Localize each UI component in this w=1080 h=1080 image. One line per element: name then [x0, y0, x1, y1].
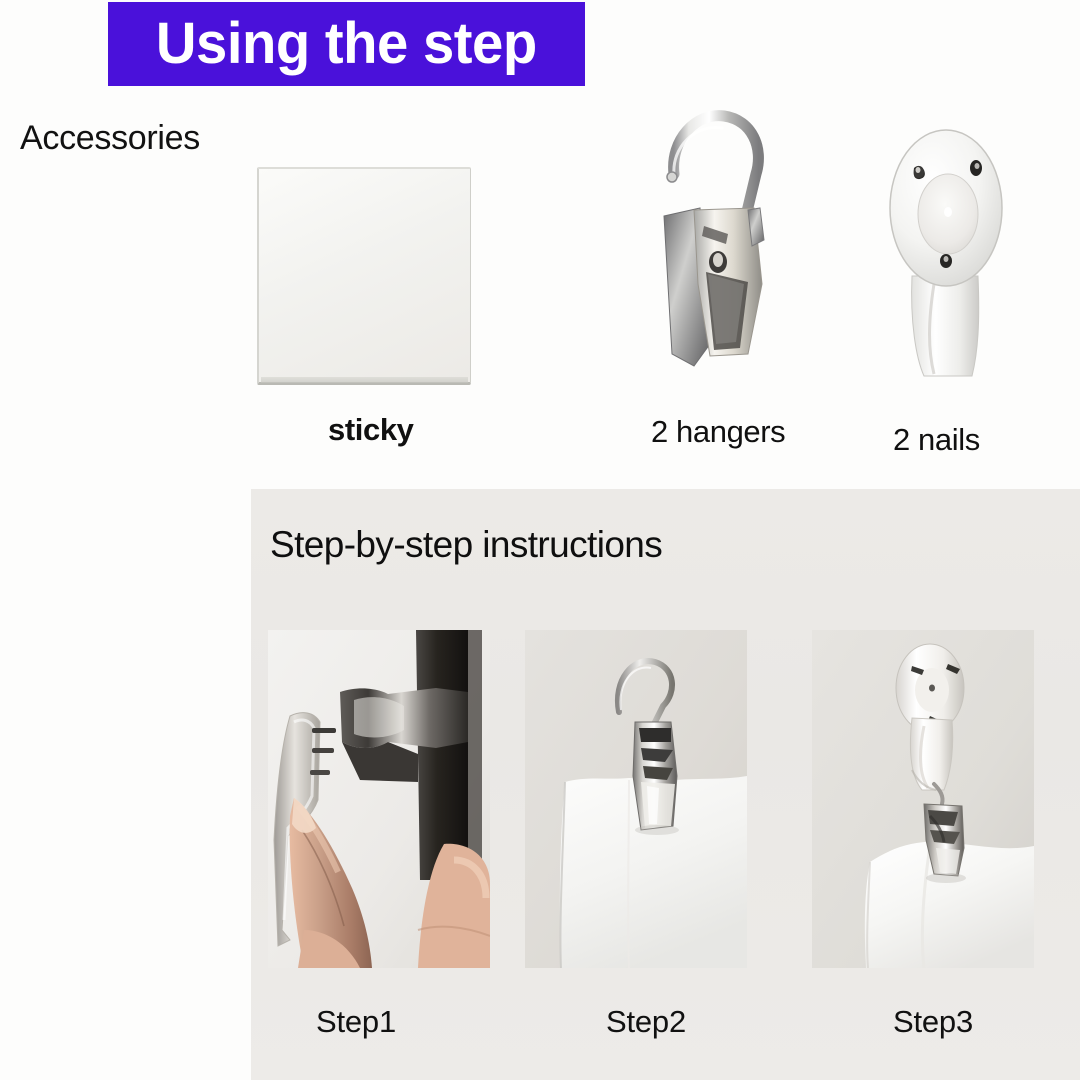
step-1-photo [268, 630, 490, 968]
step-label-1: Step1 [316, 1004, 396, 1040]
step-label-3: Step3 [893, 1004, 973, 1040]
wall-hook-nail-icon [876, 126, 1036, 394]
page-title: Using the step [156, 15, 537, 73]
accessory-label-hangers: 2 hangers [651, 414, 785, 450]
accessories-heading: Accessories [20, 119, 200, 158]
sticky-pad-icon [257, 167, 471, 385]
step-label-2: Step2 [606, 1004, 686, 1040]
step-3-photo [812, 630, 1034, 968]
accessory-label-sticky: sticky [328, 412, 414, 448]
infographic-page: Using the step Accessories [0, 0, 1080, 1080]
accessory-label-nails: 2 nails [893, 422, 980, 458]
step-2-photo [525, 630, 747, 968]
title-banner: Using the step [108, 2, 585, 86]
instructions-heading: Step-by-step instructions [270, 524, 662, 566]
hanger-clip-icon [636, 104, 816, 394]
